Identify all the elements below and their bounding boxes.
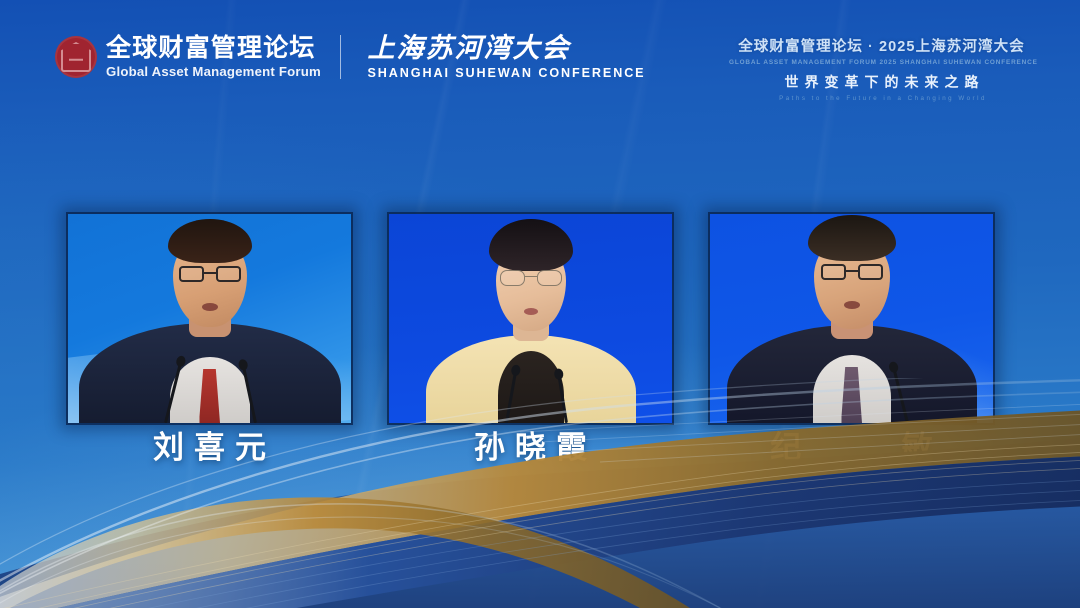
brand-cn-name: 全球财富管理论坛	[106, 34, 321, 62]
event-title-cn-part1: 全球财富管理论坛	[738, 39, 863, 55]
event-title-separator: ·	[863, 39, 879, 55]
event-title-lockup: 全球财富管理论坛·2025上海苏河湾大会 GLOBAL ASSET MANAGE…	[729, 38, 1034, 103]
speaker-name-2: 孙晓霞	[387, 428, 674, 468]
speaker-photo-3	[710, 214, 993, 423]
event-title-cn-part2: 2025上海苏河湾大会	[879, 39, 1025, 55]
speaker-name-row: 刘喜元 孙晓霞 纪 敏	[66, 428, 996, 468]
partner-en-name: SHANGHAI SUHEWAN CONFERENCE	[367, 66, 645, 81]
suhewan-brand-text: 上海苏河湾大会 SHANGHAI SUHEWAN CONFERENCE	[367, 33, 645, 81]
event-theme-en: Paths to the Future in a Changing World	[729, 94, 1034, 103]
speaker-photo-1	[68, 214, 351, 423]
speaker-photo-frame-1	[66, 212, 353, 425]
conference-slide: 全球财富管理论坛 Global Asset Management Forum 上…	[0, 0, 1080, 608]
brand-divider	[340, 35, 342, 79]
speaker-name-3: 纪 敏	[708, 428, 995, 468]
speaker-panel-2	[387, 212, 674, 425]
speaker-panel-3	[708, 212, 995, 425]
gamf-circular-emblem-icon	[55, 36, 97, 78]
speaker-name-1: 刘喜元	[66, 428, 353, 468]
speaker-photo-grid	[66, 212, 996, 425]
speaker-photo-frame-3	[708, 212, 995, 425]
gamf-brand-text: 全球财富管理论坛 Global Asset Management Forum	[106, 34, 321, 80]
brand-logo-lockup: 全球财富管理论坛 Global Asset Management Forum 上…	[55, 33, 645, 81]
brand-en-name: Global Asset Management Forum	[106, 64, 321, 80]
event-title-cn: 全球财富管理论坛·2025上海苏河湾大会	[729, 38, 1034, 56]
speaker-photo-frame-2	[387, 212, 674, 425]
speaker-photo-2	[389, 214, 672, 423]
speaker-panel-1	[66, 212, 353, 425]
event-theme-cn: 世界变革下的未来之路	[729, 73, 1034, 92]
partner-cn-name: 上海苏河湾大会	[367, 33, 645, 63]
event-title-en: GLOBAL ASSET MANAGEMENT FORUM 2025 SHANG…	[729, 58, 1034, 68]
